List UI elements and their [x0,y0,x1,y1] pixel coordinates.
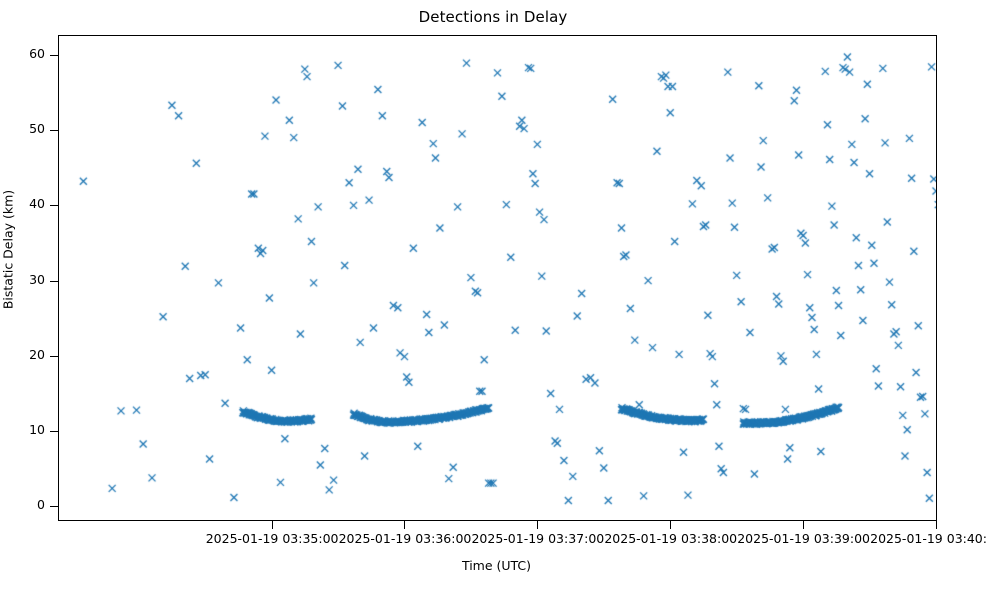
x-axis-tick: 2025-01-19 03:38:00 [670,520,671,529]
y-axis-tick-label: 20 [29,347,45,362]
x-axis-tick-label: 2025-01-19 03:36:00 [339,531,472,546]
y-axis-tick: 10 [50,431,59,432]
x-axis-tick: 2025-01-19 03:39:00 [803,520,804,529]
x-axis-tick-label: 2025-01-19 03:40:00 [870,531,986,546]
x-axis-tick-label: 2025-01-19 03:38:00 [604,531,737,546]
x-axis-tick: 2025-01-19 03:36:00 [404,520,405,529]
page-title: Detections in Delay [0,8,986,26]
x-axis-label: Time (UTC) [58,558,935,573]
matplotlib-figure: Detections in Delay 0102030405060 2025-0… [0,0,986,590]
y-axis-tick-label: 0 [37,497,45,512]
plot-area: 0102030405060 2025-01-19 03:35:002025-01… [58,35,937,521]
y-axis-tick: 40 [50,205,59,206]
y-axis-tick-label: 50 [29,121,45,136]
x-axis-tick-label: 2025-01-19 03:35:00 [206,531,339,546]
y-axis-tick-label: 60 [29,46,45,61]
x-axis-tick-label: 2025-01-19 03:39:00 [737,531,870,546]
y-axis-tick: 60 [50,55,59,56]
x-axis-tick: 2025-01-19 03:40:00 [936,520,937,529]
y-axis-label: Bistatic Delay (km) [1,30,16,470]
y-axis-tick: 30 [50,281,59,282]
y-axis-tick: 0 [50,506,59,507]
y-axis-tick-label: 10 [29,422,45,437]
y-axis-tick: 50 [50,130,59,131]
x-axis-tick: 2025-01-19 03:37:00 [537,520,538,529]
scatter-plot-canvas [59,36,936,520]
x-axis-tick: 2025-01-19 03:35:00 [272,520,273,529]
x-axis-tick-label: 2025-01-19 03:37:00 [471,531,604,546]
y-axis-tick-label: 40 [29,196,45,211]
y-axis-tick-label: 30 [29,272,45,287]
y-axis-tick: 20 [50,356,59,357]
